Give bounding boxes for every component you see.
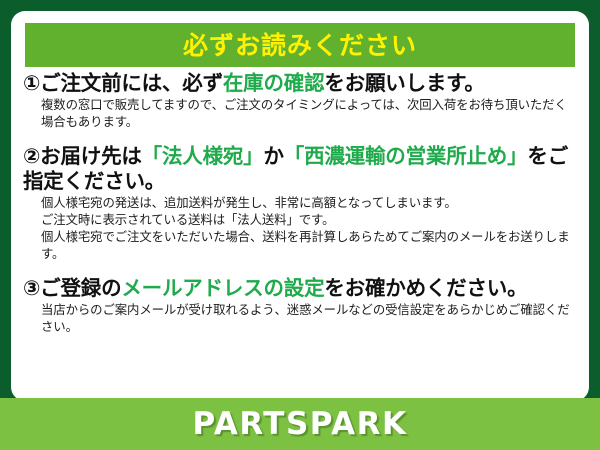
page-title: 必ずお読みください xyxy=(183,33,417,58)
notice-panel: 必ずお読みください ①ご注文前には、必ず在庫の確認をお願いします。 複数の窓口で… xyxy=(11,11,589,401)
item-3-heading: ③ご登録のメールアドレスの設定をお確かめください。 xyxy=(23,276,577,301)
item-3-heading-post: をお確かめください。 xyxy=(324,276,527,300)
item-1-note: 複数の窓口で販売してますので、ご注文のタイミングによっては、次回入荷をお待ち頂い… xyxy=(41,97,577,131)
item-2-heading-highlight2: 「西濃運輸の営業所止め」 xyxy=(284,144,528,168)
notice-items-list: ①ご注文前には、必ず在庫の確認をお願いします。 複数の窓口で販売してますので、ご… xyxy=(11,71,589,338)
list-item: ③ご登録のメールアドレスの設定をお確かめください。 当店からのご案内メールが受け… xyxy=(23,276,577,336)
list-item: ①ご注文前には、必ず在庫の確認をお願いします。 複数の窓口で販売してますので、ご… xyxy=(23,71,577,131)
notice-header-band: 必ずお読みください xyxy=(25,23,575,67)
item-1-heading-pre: ご注文前には、必ず xyxy=(40,71,223,95)
item-1-heading-post: をお願いします。 xyxy=(324,71,484,95)
item-2-heading: ②お届け先は「法人様宛」か「西濃運輸の営業所止め」をご指定ください。 xyxy=(23,144,577,194)
item-2-note: 個人様宅宛の発送は、追加送料が発生し、非常に高額となってしまいます。 ご注文時に… xyxy=(41,195,577,263)
footer-brand-bar: PARTSPARK xyxy=(0,398,600,450)
item-3-heading-highlight: メールアドレスの設定 xyxy=(121,276,324,300)
item-1-marker: ① xyxy=(23,71,40,95)
item-1-heading-highlight: 在庫の確認 xyxy=(223,71,325,95)
item-2-heading-pre: お届け先は xyxy=(40,144,142,168)
list-item: ②お届け先は「法人様宛」か「西濃運輸の営業所止め」をご指定ください。 個人様宅宛… xyxy=(23,144,577,263)
notice-card: 必ずお読みください ①ご注文前には、必ず在庫の確認をお願いします。 複数の窓口で… xyxy=(0,0,600,450)
brand-logo-text: PARTSPARK xyxy=(192,409,407,440)
item-3-marker: ③ xyxy=(23,276,40,300)
item-1-heading: ①ご注文前には、必ず在庫の確認をお願いします。 xyxy=(23,71,577,96)
item-2-heading-mid: か xyxy=(263,144,283,168)
item-2-heading-highlight: 「法人様宛」 xyxy=(142,144,264,168)
item-2-marker: ② xyxy=(23,144,40,168)
item-3-heading-pre: ご登録の xyxy=(40,276,121,300)
item-3-note: 当店からのご案内メールが受け取れるよう、迷惑メールなどの受信設定をあらかじめご確… xyxy=(41,302,577,336)
